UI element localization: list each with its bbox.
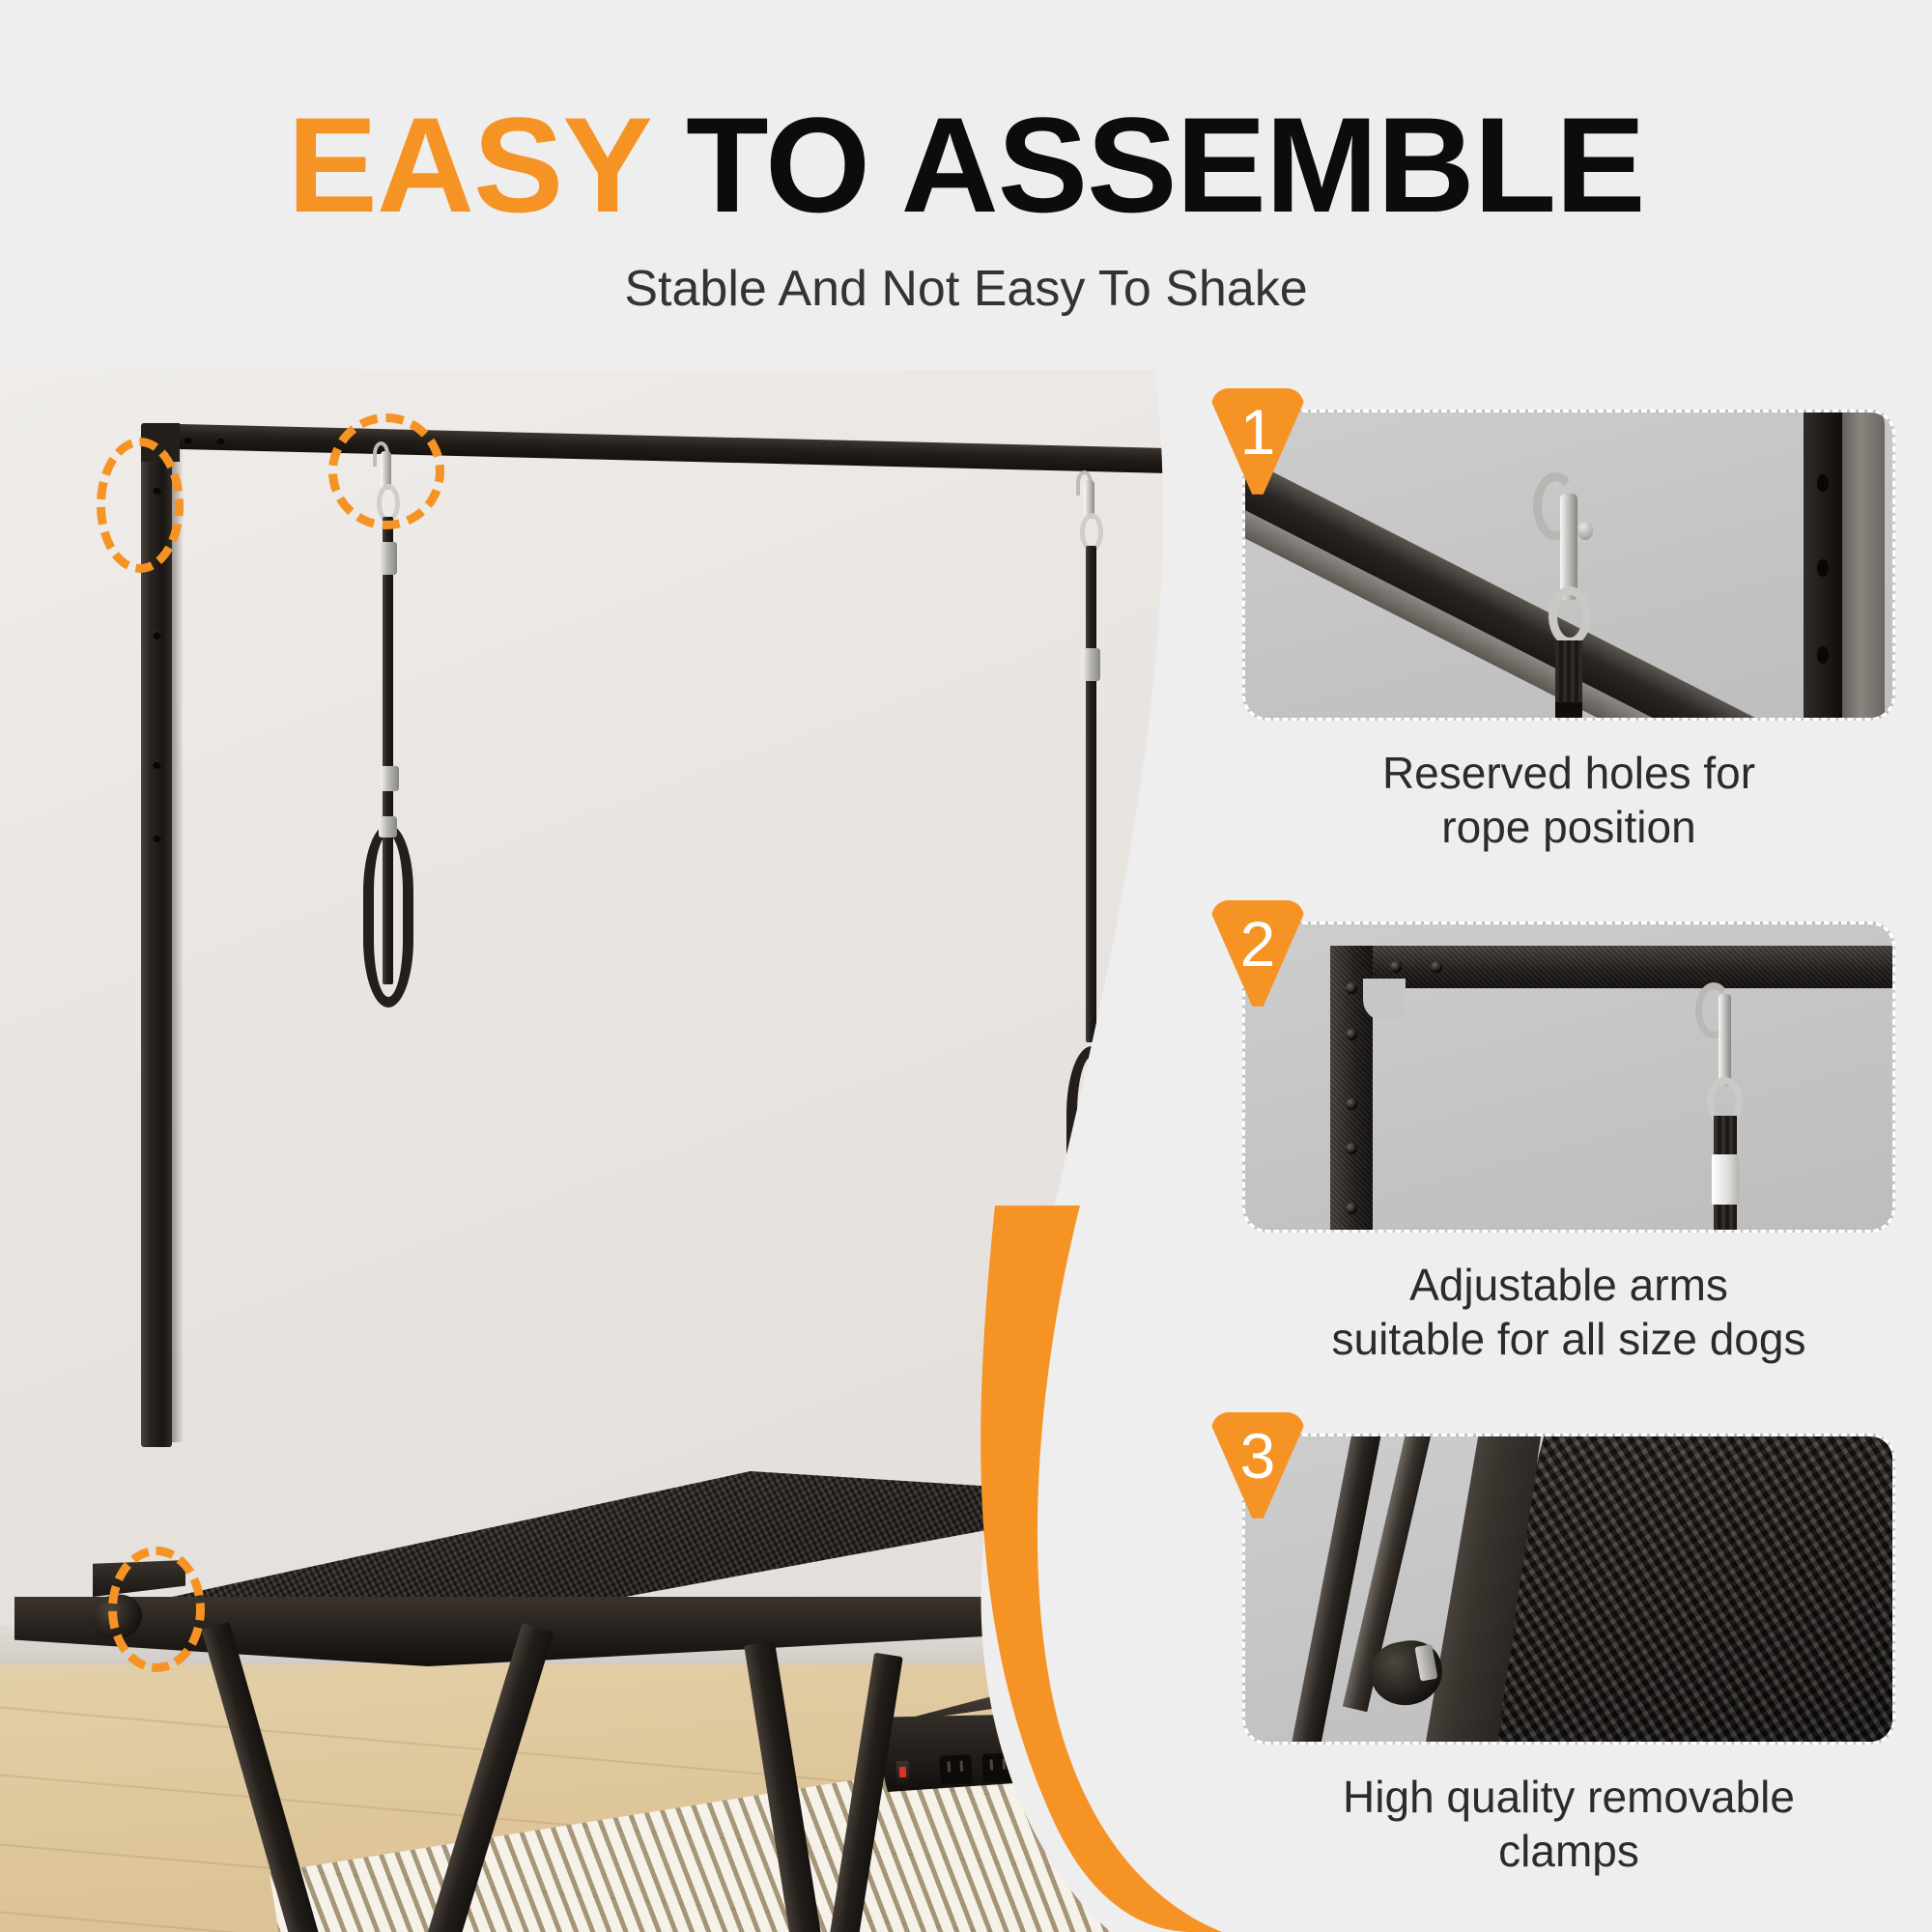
hero-product-photo (0, 370, 1188, 1932)
feature-image-1 (1242, 410, 1895, 721)
leash-slider (1084, 1065, 1102, 1089)
power-strip (865, 1691, 1096, 1798)
snap-hook-highlight (328, 413, 444, 529)
grooming-arm-post-shadow (172, 438, 184, 1442)
bar-end-cap (1840, 410, 1885, 721)
usb-port (1064, 1747, 1090, 1758)
power-outlet (939, 1754, 973, 1785)
adjustment-hole (1390, 961, 1402, 973)
bar-hole (216, 437, 225, 445)
power-switch[interactable] (895, 1761, 909, 1785)
feature-card-2: 2 Adjustable arms suitable for all size … (1242, 922, 1895, 1366)
leash-slider (381, 766, 399, 791)
feature-card-3: 3 High quality removable clamps (1242, 1434, 1895, 1878)
post-hole (153, 631, 161, 639)
usb-port (1064, 1764, 1090, 1776)
adjustment-hole (1346, 1098, 1357, 1110)
post-hole (153, 760, 161, 769)
feature-caption-2: Adjustable arms suitable for all size do… (1242, 1258, 1895, 1366)
adjustment-hole (1346, 1143, 1357, 1154)
adjustment-hole (1346, 1203, 1357, 1214)
feature-caption-3: High quality removable clamps (1242, 1770, 1895, 1878)
leash-ferrule (1082, 648, 1100, 681)
leash-strap (1086, 546, 1096, 739)
feature-image-3 (1242, 1434, 1895, 1745)
bar-end-face (1804, 410, 1842, 721)
leash-ferrule (379, 542, 397, 575)
page-subtitle: Stable And Not Easy To Shake (0, 259, 1932, 319)
feature-image-2 (1242, 922, 1895, 1233)
bar-hole (184, 436, 192, 444)
feature-caption-1: Reserved holes for rope position (1242, 746, 1895, 854)
post-hole (153, 834, 161, 842)
adjustment-hole (1431, 961, 1442, 973)
leash-strap-tip (1555, 702, 1582, 721)
leash-loop (363, 824, 413, 1008)
headline-rest: TO ASSEMBLE (649, 89, 1644, 241)
leash-loop-keeper (379, 816, 397, 838)
power-outlet (1024, 1750, 1058, 1781)
feature-card-1: 1 Reserved holes for rope position (1242, 410, 1895, 854)
power-outlet (981, 1752, 1015, 1783)
header-banner: EASY TO ASSEMBLE Stable And Not Easy To … (0, 0, 1932, 370)
leash-loop (1066, 1046, 1117, 1230)
grooming-arm-post (141, 423, 172, 1447)
adjustment-hole (1346, 982, 1357, 994)
leash-slider (1712, 1154, 1739, 1205)
headline-accent-word: EASY (287, 89, 649, 241)
adjustment-hole (1346, 1029, 1357, 1040)
clamp-knob-highlight (108, 1547, 205, 1672)
post-holes-highlight (97, 438, 184, 573)
page-title: EASY TO ASSEMBLE (0, 93, 1932, 238)
leash-strap (1086, 733, 1096, 1042)
